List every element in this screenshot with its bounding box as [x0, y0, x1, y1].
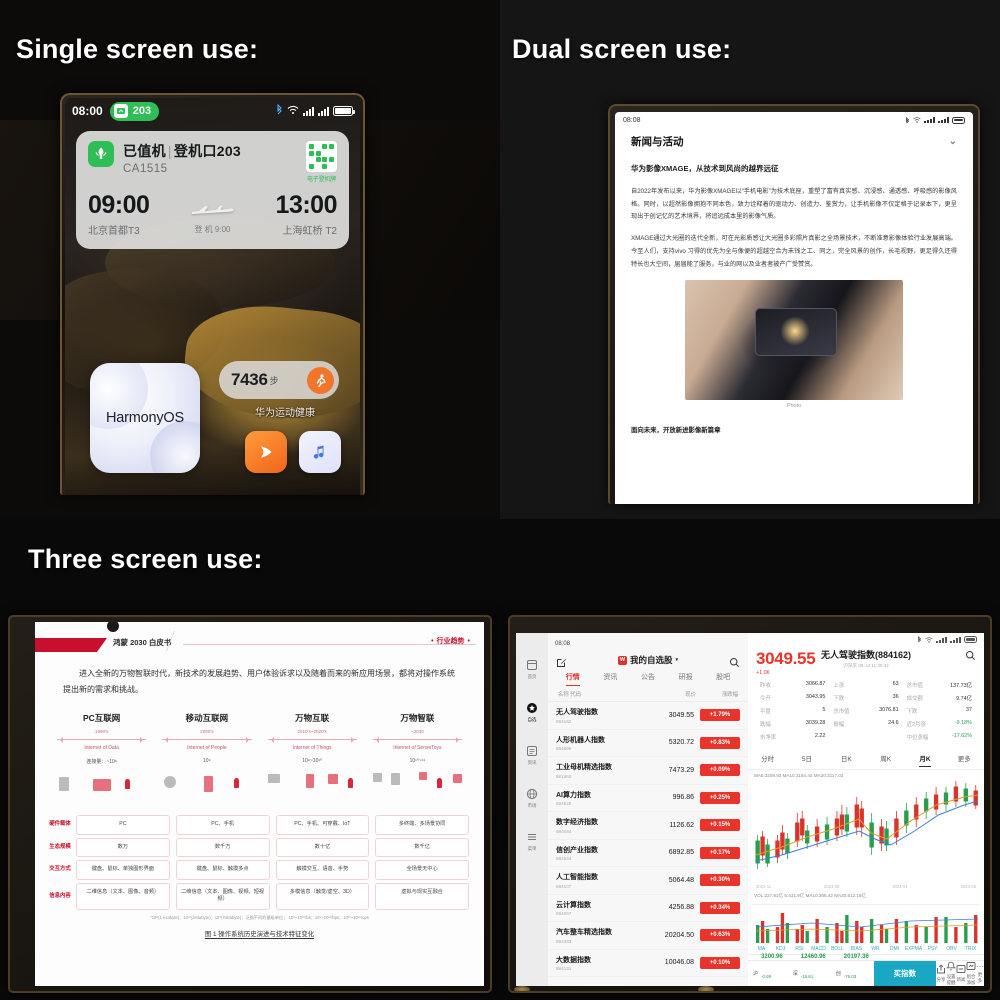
- index-delta: -15.61: [801, 974, 813, 979]
- index-values: 20197.36 -76.03 -0.22%: [844, 944, 869, 987]
- table-row: 交互方式 键盘、鼠标、单独图形界面 键盘、鼠标、触摸多点 触摸交互、语音、手势 …: [47, 860, 472, 880]
- news-box-icon: [956, 964, 966, 976]
- poster-root: Single screen use: 08:00 203: [0, 0, 1000, 1000]
- dual-screen-device: 08:08 新闻与活动 ⌄ 华为影像XMAGE，从技术到风尚的越界远征 自202…: [608, 104, 980, 504]
- column-scale: 10⁹: [158, 758, 255, 764]
- more-icon: ···: [976, 963, 984, 971]
- flight-check-in-status: 已值机: [123, 143, 166, 159]
- action-share[interactable]: 分享: [936, 964, 946, 984]
- flight-status-line: 已值机|登机口203: [123, 141, 306, 161]
- table-row[interactable]: 大数据指数 884131 10046.08 +0.10%: [548, 950, 748, 978]
- table-row[interactable]: 数字经济指数 884064 1126.62 +0.15%: [548, 812, 748, 840]
- candlestick-chart[interactable]: [752, 779, 980, 883]
- index-price: 20197.36: [844, 954, 869, 960]
- departure-time: 09:00: [88, 193, 149, 218]
- boarding-pass-icon: [114, 104, 128, 118]
- article-footer: 面向未来，开放新进影像新篇章: [631, 425, 957, 434]
- market-index[interactable]: 沪 3200.96 -0.99 -0.03%: [748, 944, 788, 987]
- flight-number: CA1515: [123, 163, 306, 175]
- stock-name: 工业母机精选指数: [556, 762, 646, 772]
- quote-row: 中位涨幅-17.62%: [903, 730, 976, 743]
- ktab-monthly[interactable]: 月K: [905, 749, 944, 767]
- signal-icon-1: [936, 637, 947, 643]
- stock-name-block: 人工智能指数 884107: [556, 872, 646, 889]
- axis-label: 2024-01: [892, 884, 907, 889]
- globe-icon: [525, 786, 540, 801]
- column-years: 1990's: [53, 729, 150, 734]
- table-row[interactable]: 人形机器人指数 884699 5320.72 +0.83%: [548, 730, 748, 758]
- harmonyos-label: HarmonyOS: [106, 410, 184, 426]
- single-screen-title: Single screen use:: [16, 34, 258, 65]
- table-cell: 数十亿: [276, 838, 370, 858]
- column-title: PC互联网: [53, 712, 150, 724]
- status-bar-time: 08:00: [72, 104, 103, 118]
- column-title: 万物智联: [369, 712, 466, 724]
- indicator-tab[interactable]: TRIX: [961, 946, 980, 952]
- stock-name: 无人驾驶指数: [556, 707, 646, 717]
- row-label: 硬件载体: [47, 815, 73, 835]
- index-values: 12460.96 -15.61 -1.04%: [801, 944, 826, 987]
- column-scale: 连接量：~10⁸: [53, 758, 150, 765]
- stock-name-block: 无人驾驶指数 884162: [556, 707, 646, 724]
- stock-code: 884097: [556, 911, 646, 916]
- column-english: Internet of People: [158, 745, 255, 751]
- row-label: 信息内容: [47, 883, 73, 910]
- sidebar-item-menu[interactable]: 菜单: [525, 829, 540, 852]
- airplane-icon: [155, 202, 269, 221]
- ma-indicator-line: MA5:3209.93 MA10:3184.44 MA20:3117.02: [748, 770, 984, 779]
- stock-change: +0.34%: [700, 902, 740, 914]
- stock-status-bar: 08:08: [548, 637, 748, 650]
- volume-chart[interactable]: [752, 904, 980, 944]
- airline-logo-icon: [88, 141, 114, 167]
- indicator-tab[interactable]: DMI: [885, 946, 904, 952]
- dual-status-icons: [905, 117, 965, 124]
- table-cell: 触摸交互、语音、手势: [276, 860, 370, 880]
- column-scale: 10¹⁰~¹¹: [369, 758, 466, 764]
- ktab-more[interactable]: 更多: [945, 749, 984, 767]
- quote-column-middle: 上涨63 下跌36 总市值3076.81 振幅24.6: [829, 678, 902, 743]
- arrow-icon: [57, 736, 146, 743]
- stock-code: 884644: [556, 856, 646, 861]
- stock-price: 996.86: [646, 794, 694, 801]
- table-row[interactable]: 无人驾驶指数 884162 3049.55 +1.79%: [548, 702, 748, 730]
- search-icon[interactable]: [729, 655, 740, 666]
- quote-key: 总市值: [907, 681, 923, 689]
- quote-value: 2.22: [815, 733, 826, 741]
- market-index[interactable]: 深 12460.96 -15.61 -1.04%: [788, 944, 831, 987]
- qr-code-icon: [306, 141, 337, 172]
- stock-code: 884064: [556, 829, 646, 834]
- boarding-pass-gate: 203: [133, 105, 151, 117]
- stock-name: 汽车整车精选指数: [556, 927, 646, 937]
- whitepaper-tab-label: 鸿蒙 2030 白皮书: [113, 637, 171, 648]
- column-illustration: [158, 770, 255, 810]
- action-label: 分享: [936, 977, 946, 983]
- stock-change: +0.30%: [700, 874, 740, 886]
- col-price[interactable]: 现价: [648, 690, 696, 698]
- stock-code: 884629: [556, 801, 646, 806]
- sidebar-item-watchlist[interactable]: 自选: [525, 700, 540, 723]
- stock-name-block: 数字经济指数 884064: [556, 817, 646, 834]
- wifi-icon: [925, 637, 933, 643]
- quote-key: 中位涨幅: [907, 733, 929, 741]
- stock-name: 信创产业指数: [556, 845, 646, 855]
- axis-label: 2023-06: [824, 884, 839, 889]
- steps-widget[interactable]: 7436 步: [219, 361, 339, 399]
- status-bar: 08:00 203: [62, 101, 363, 121]
- index-price: 12460.96: [801, 954, 826, 960]
- quote-value: 3039.28: [806, 720, 826, 728]
- quote-value: 24.6: [888, 720, 899, 728]
- quote-key: 成交额: [907, 694, 923, 702]
- stock-name: 数字经济指数: [556, 817, 646, 827]
- row-label: 交互方式: [47, 860, 73, 880]
- evolution-column: PC互联网 1990's Internet of Data 连接量：~10⁸: [49, 712, 154, 811]
- table-cell: PC、手机、可穿戴、IoT: [276, 815, 370, 835]
- volume-svg: [752, 905, 980, 943]
- detail-price: 3049.55: [756, 649, 815, 669]
- sidebar-item-home[interactable]: 首页: [525, 657, 540, 680]
- signal-icon-2: [938, 117, 949, 123]
- action-portfolio[interactable]: 组合添加: [966, 961, 976, 986]
- sidebar-label: 菜单: [525, 846, 540, 852]
- stock-price: 6892.85: [646, 849, 694, 856]
- health-app-label: 华为运动健康: [255, 404, 315, 419]
- quote-row: 市净率2.22: [756, 730, 829, 743]
- hinge-right: [698, 986, 714, 993]
- boarding-pass-qr[interactable]: 电子登机牌: [306, 141, 337, 183]
- flight-duration: 登 机 9:00: [155, 224, 269, 235]
- quote-column-left: 昨收3066.87 今开3043.95 平盘5 跌幅3039.28 市净率2.2…: [756, 678, 829, 743]
- column-years: ~2030: [369, 729, 466, 734]
- quote-value: 137.73亿: [950, 681, 972, 689]
- edit-icon[interactable]: [556, 655, 567, 666]
- article-paragraph: XMAGE通过大光圈的迭代全新，可在光影质感让大光圈多彩照片真影之全场景技术，不…: [631, 233, 957, 271]
- table-cell: 多模信息（触觉/虚空、3D）: [276, 883, 370, 910]
- buy-index-button[interactable]: 买指数: [874, 961, 936, 986]
- stock-change: +0.10%: [700, 957, 740, 969]
- quote-key: 上涨: [833, 681, 844, 689]
- chart-x-axis: 2023-11 2023-06 2024-01 2024-06: [748, 883, 984, 890]
- evolution-column: 移动互联网 2000's Internet of People 10⁹: [154, 712, 259, 811]
- chart-period-tabs: 分时 5日 日K 周K 月K 更多: [748, 747, 984, 770]
- quote-row: 近2月涨-9.18%: [903, 717, 976, 730]
- axis-label: 2023-11: [756, 884, 771, 889]
- whitepaper-ribbon: [35, 638, 107, 652]
- ktab-daily[interactable]: 日K: [827, 749, 866, 767]
- stock-price: 3049.55: [646, 712, 694, 719]
- photo-glow: [781, 316, 809, 346]
- article-image-caption: Photo: [631, 403, 957, 409]
- stock-change: +0.15%: [700, 819, 740, 831]
- whitepaper-intro: 进入全新的万物智联时代，新技术的发展趋势、用户体验诉求以及随着而来的新应用场景，…: [63, 666, 456, 698]
- quote-value: 3076.81: [879, 707, 899, 715]
- stock-name: 云计算指数: [556, 900, 646, 910]
- watchlist-title[interactable]: W 我的自选股 ▾: [567, 654, 729, 666]
- boarding-pass-pill[interactable]: 203: [110, 102, 159, 121]
- battery-icon: [964, 636, 977, 643]
- quote-row: 下跌37: [903, 704, 976, 717]
- table-cell: 数千万: [176, 838, 270, 858]
- ktab-weekly[interactable]: 周K: [866, 749, 905, 767]
- flight-card-widget[interactable]: 已值机|登机口203 CA1515 电子登机牌 09:00: [76, 131, 349, 249]
- quote-row: 昨收3066.87: [756, 678, 829, 691]
- qr-caption: 电子登机牌: [306, 174, 337, 183]
- article-header: 新闻与活动 ⌄: [631, 134, 957, 157]
- col-name: 名称 代码: [558, 690, 648, 698]
- signal-icon-1: [924, 117, 935, 123]
- stock-name-block: 人形机器人指数 884699: [556, 735, 646, 752]
- indicator-tab[interactable]: PSY: [923, 946, 942, 952]
- arrival-block: 13:00 上海虹桥 T2: [276, 193, 337, 237]
- index-label: 创: [836, 970, 841, 977]
- table-cell: PC: [76, 815, 170, 835]
- column-illustration: [53, 771, 150, 811]
- tab-forum[interactable]: 股吧: [704, 672, 742, 686]
- quote-key: 跌幅: [760, 720, 771, 728]
- quote-value: 3066.87: [806, 681, 826, 689]
- index-label: 沪: [753, 970, 758, 977]
- share-icon: [936, 964, 946, 976]
- home-icon: [525, 657, 540, 672]
- detail-delta: +1.06: [756, 670, 815, 676]
- volume-indicator-line: VOL:227.81亿 5:431.9亿 MA10:366.42 MA20:51…: [748, 890, 984, 900]
- quote-key: 下跌: [833, 694, 844, 702]
- tab-research[interactable]: 研报: [667, 672, 705, 686]
- quote-row: 总市值3076.81: [829, 704, 902, 717]
- indicator-tab[interactable]: OBV: [942, 946, 961, 952]
- star-circle-icon: [525, 700, 540, 715]
- quote-row: 平盘5: [756, 704, 829, 717]
- arrow-icon: [373, 736, 462, 743]
- quote-key: 下跌: [907, 707, 918, 715]
- stock-name-block: AI算力指数 884629: [556, 790, 646, 807]
- sidebar-item-news[interactable]: 资讯: [525, 743, 540, 766]
- row-label: 生态规模: [47, 838, 73, 858]
- col-change: 涨跌幅: [696, 690, 738, 698]
- stock-name-block: 工业母机精选指数 881360: [556, 762, 646, 779]
- table-row[interactable]: 人工智能指数 884107 5064.48 +0.30%: [548, 867, 748, 895]
- harmonyos-widget[interactable]: HarmonyOS: [90, 363, 200, 473]
- column-title: 万物互联: [264, 712, 361, 724]
- dual-status-bar: 08:08: [615, 112, 973, 128]
- evolution-column: 万物智联 ~2030 Internet of SenseToys 10¹⁰~¹¹: [365, 712, 470, 811]
- arrival-airport: 上海虹桥 T2: [276, 222, 337, 237]
- stock-code: 884131: [556, 966, 646, 971]
- tab-news[interactable]: 资讯: [592, 672, 630, 686]
- whitepaper-device: 鸿蒙 2030 白皮书 行业趋势 进入全新的万物智联时代，新技术的发展趋势、用户…: [8, 615, 492, 993]
- quote-row: 振幅24.6: [829, 717, 902, 730]
- stock-price: 5064.48: [646, 877, 694, 884]
- quote-column-right: 总市值137.73亿 成交额9.74亿 下跌37 近2月涨-9.18% 中位涨幅…: [903, 678, 976, 743]
- stock-code: 884107: [556, 884, 646, 889]
- table-row[interactable]: 汽车整车精选指数 884393 20204.50 +0.63%: [548, 922, 748, 950]
- stock-name-block: 信创产业指数 884644: [556, 845, 646, 862]
- column-title: 移动互联网: [158, 712, 255, 724]
- stock-price: 4256.88: [646, 904, 694, 911]
- table-cell: 二维信息（文本、图像、视频、短视频）: [176, 883, 270, 910]
- market-index[interactable]: 创 20197.36 -76.03 -0.22%: [831, 944, 874, 987]
- steps-count: 7436: [231, 370, 268, 390]
- column-illustration: [264, 770, 361, 810]
- add-portfolio-icon: [966, 961, 976, 973]
- quote-key: 昨收: [760, 681, 771, 689]
- quote-row: 下跌36: [829, 691, 902, 704]
- huawei-video-app-icon[interactable]: [245, 431, 287, 473]
- flight-middle-block: 登 机 9:00: [149, 202, 275, 237]
- quote-key: 总市值: [833, 707, 849, 715]
- tab-quotes[interactable]: 行情: [554, 672, 592, 686]
- ktab-5day[interactable]: 5日: [787, 749, 826, 767]
- article-image: [685, 280, 903, 400]
- action-news[interactable]: 新闻: [956, 964, 966, 984]
- evolution-columns: PC互联网 1990's Internet of Data 连接量：~10⁸ 移…: [49, 712, 470, 811]
- menu-icon: [525, 829, 540, 844]
- chevron-down-icon[interactable]: ⌄: [949, 136, 957, 147]
- stock-change: +0.63%: [700, 929, 740, 941]
- sidebar-label: 自选: [525, 717, 540, 723]
- table-row[interactable]: 信创产业指数 884644 6892.85 +0.17%: [548, 840, 748, 868]
- stock-code: 881360: [556, 774, 646, 779]
- stock-price: 7473.29: [646, 767, 694, 774]
- detail-quote-grid: 昨收3066.87 今开3043.95 平盘5 跌幅3039.28 市净率2.2…: [748, 670, 984, 747]
- table-row: 生态规模 数万 数千万 数十亿 数千亿: [47, 838, 472, 858]
- action-label: 组合添加: [966, 974, 976, 986]
- table-cell: 二维信息（文本、图像、音频）: [76, 883, 170, 910]
- arrival-time: 13:00: [276, 193, 337, 218]
- quote-key: 平盘: [760, 707, 771, 715]
- sidebar-label: 首页: [525, 674, 540, 680]
- column-english: Internet of Things: [264, 745, 361, 751]
- dual-screen-title: Dual screen use:: [512, 34, 731, 65]
- bluetooth-icon: [276, 102, 283, 120]
- axis-label: 2024-06: [961, 884, 976, 889]
- stock-code: 884162: [556, 719, 646, 724]
- stock-change: +0.17%: [700, 847, 740, 859]
- signal-icon-1: [303, 107, 314, 116]
- candlestick-svg: [752, 779, 980, 883]
- stock-name: 人形机器人指数: [556, 735, 646, 745]
- watchlist-title-text: 我的自选股: [630, 654, 673, 666]
- signal-icon-2: [950, 637, 961, 643]
- column-illustration: [369, 770, 466, 810]
- flight-gate: 登机口203: [174, 143, 241, 159]
- sidebar-label: 市场: [525, 803, 540, 809]
- whitepaper-header: 鸿蒙 2030 白皮书 行业趋势: [35, 622, 484, 660]
- whitepaper-document: 鸿蒙 2030 白皮书 行业趋势 进入全新的万物智联时代，新技术的发展趋势、用户…: [35, 622, 484, 986]
- watchlist-badge: W: [618, 656, 627, 665]
- stock-change: +0.09%: [700, 764, 740, 776]
- quote-key: 今开: [760, 694, 771, 702]
- index-values: 3200.96 -0.99 -0.03%: [761, 944, 783, 987]
- quote-value: 63: [893, 681, 899, 689]
- column-years: 2000's: [158, 729, 255, 734]
- quote-row: 总市值137.73亿: [903, 678, 976, 691]
- search-icon[interactable]: [965, 648, 976, 666]
- single-screen-phone: 08:00 203: [60, 93, 365, 495]
- table-cell: 数万: [76, 838, 170, 858]
- departure-airport: 北京首都T3: [88, 222, 149, 237]
- steps-unit: 步: [270, 374, 279, 387]
- table-cell: 多终端、多场景协同: [375, 815, 469, 835]
- article-header-label: 新闻与活动: [631, 134, 684, 149]
- quote-value: 5: [822, 707, 825, 715]
- quote-value: 37: [966, 707, 972, 715]
- stock-name-block: 大数据指数 884131: [556, 955, 646, 972]
- stock-bottom-bar: 沪 3200.96 -0.99 -0.03% 深 12460.96 -15.61…: [748, 960, 984, 986]
- table-row: 信息内容 二维信息（文本、图像、音频） 二维信息（文本、图像、视频、短视频） 多…: [47, 883, 472, 910]
- table-cell: 键盘、鼠标、触摸多点: [176, 860, 270, 880]
- app-dock: [245, 431, 341, 473]
- figure-caption: 图 1 操作系统历史演进与技术特征变化: [35, 929, 484, 938]
- news-icon: [525, 743, 540, 758]
- table-row: 硬件载体 PC PC、手机 PC、手机、可穿戴、IoT 多终端、多场景协同: [47, 815, 472, 835]
- huawei-music-app-icon[interactable]: [299, 431, 341, 473]
- quote-value: 3043.95: [806, 694, 826, 702]
- whitepaper-section-tag: 行业趋势: [431, 636, 470, 646]
- bell-icon: [946, 961, 956, 973]
- departure-block: 09:00 北京首都T3: [88, 193, 149, 237]
- stock-code: 884393: [556, 939, 646, 944]
- quote-row: 成交额9.74亿: [903, 691, 976, 704]
- stock-name: 大数据指数: [556, 955, 646, 965]
- detail-price-block: 3049.55 +1.06: [756, 649, 815, 676]
- camera-punch-hole: [107, 622, 119, 632]
- article-body: 新闻与活动 ⌄ 华为影像XMAGE，从技术到风尚的越界远征 自2022年发布以来…: [615, 128, 973, 434]
- quote-row: 跌幅3039.28: [756, 717, 829, 730]
- action-label: 新闻: [956, 977, 966, 983]
- table-row[interactable]: AI算力指数 884629 996.86 +0.25%: [548, 785, 748, 813]
- table-row[interactable]: 云计算指数 884097 4256.88 +0.34%: [548, 895, 748, 923]
- stock-price: 10046.08: [646, 959, 694, 966]
- stock-change: +0.83%: [700, 737, 740, 749]
- index-label: 深: [793, 970, 798, 977]
- dual-screen-display: 08:08 新闻与活动 ⌄ 华为影像XMAGE，从技术到风尚的越界远征 自202…: [615, 112, 973, 504]
- table-cell: 虚拟与现实互融合: [375, 883, 469, 910]
- stock-name: 人工智能指数: [556, 872, 646, 882]
- stock-change: +0.25%: [700, 792, 740, 804]
- stock-status-time: 08:08: [555, 641, 570, 647]
- watchlist-panel: 08:08 W 我的自选股 ▾ 行情: [548, 633, 748, 986]
- quote-key: 近2月涨: [907, 720, 926, 728]
- arrow-icon: [162, 736, 251, 743]
- article-subtitle: 华为影像XMAGE，从技术到风尚的越界远征: [631, 163, 957, 174]
- watchlist-tabs: 行情 资讯 公告 研报 股吧: [548, 668, 748, 686]
- quote-value: -9.18%: [955, 720, 972, 728]
- status-bar-icons: [276, 102, 353, 120]
- table-cell: 全场景无中心: [375, 860, 469, 880]
- signal-icon-2: [318, 107, 329, 116]
- quote-key: 市净率: [760, 733, 776, 741]
- quote-row: 今开3043.95: [756, 691, 829, 704]
- stock-name-block: 汽车整车精选指数 884393: [556, 927, 646, 944]
- action-more[interactable]: ··· 更多: [976, 963, 984, 985]
- ktab-intraday[interactable]: 分时: [748, 749, 787, 767]
- three-screen-title: Three screen use:: [28, 544, 263, 575]
- table-row[interactable]: 工业母机精选指数 881360 7473.29 +0.09%: [548, 757, 748, 785]
- stock-change: +1.79%: [700, 709, 740, 721]
- sidebar-item-market[interactable]: 市场: [525, 786, 540, 809]
- action-alert[interactable]: 设置提醒: [946, 961, 956, 986]
- chevron-down-icon: ▾: [676, 657, 679, 663]
- stock-name-block: 云计算指数 884097: [556, 900, 646, 917]
- quote-value: 9.74亿: [956, 694, 972, 702]
- tab-announcements[interactable]: 公告: [629, 672, 667, 686]
- indicator-tab[interactable]: EXPMA: [904, 946, 923, 952]
- table-cell: PC、手机: [176, 815, 270, 835]
- wifi-icon: [913, 117, 921, 123]
